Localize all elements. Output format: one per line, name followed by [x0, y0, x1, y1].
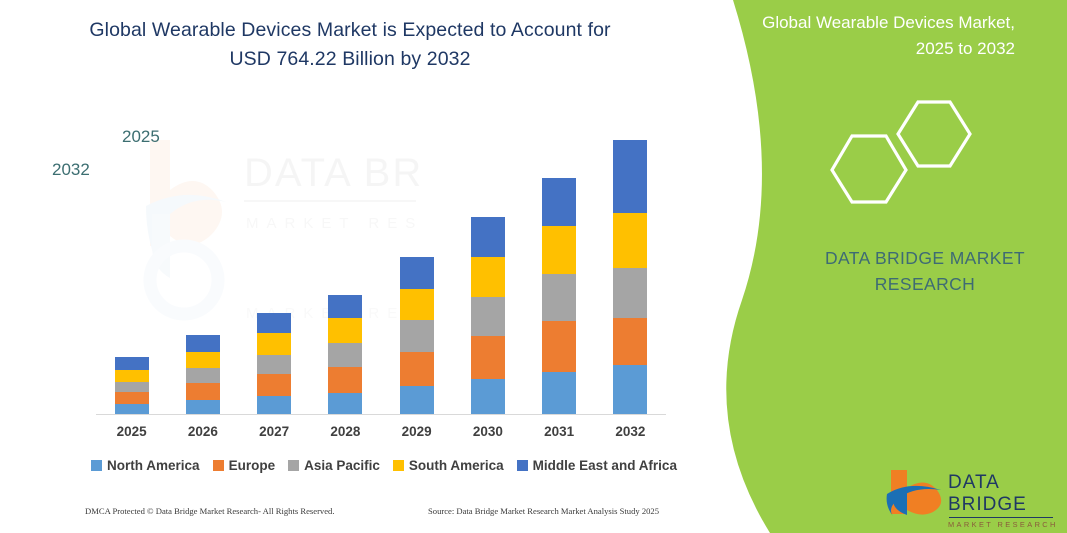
bar-segment[interactable]: [400, 352, 434, 386]
bar-segment[interactable]: [115, 357, 149, 370]
bar-segment[interactable]: [186, 335, 220, 352]
legend-swatch-icon: [288, 460, 299, 471]
stacked-bar[interactable]: [186, 335, 220, 415]
bar-segment[interactable]: [257, 355, 291, 374]
bar-segment[interactable]: [471, 336, 505, 379]
legend-swatch-icon: [213, 460, 224, 471]
bar-segment[interactable]: [613, 213, 647, 268]
stacked-bar[interactable]: [471, 217, 505, 415]
stacked-bar[interactable]: [115, 357, 149, 415]
bar-segment[interactable]: [613, 268, 647, 318]
x-axis-line: [96, 414, 666, 415]
legend-label: North America: [107, 458, 200, 473]
bar-segment[interactable]: [400, 386, 434, 415]
logo-main-text: DATA BRIDGE: [948, 472, 1067, 516]
legend-item[interactable]: South America: [393, 458, 504, 473]
side-brand-line1: DATA BRIDGE MARKET: [825, 248, 1025, 268]
bar-segment[interactable]: [613, 365, 647, 415]
bar-segment[interactable]: [542, 226, 576, 274]
legend-item[interactable]: Middle East and Africa: [517, 458, 677, 473]
stacked-bar[interactable]: [257, 313, 291, 415]
legend-swatch-icon: [517, 460, 528, 471]
side-title-line1: Global Wearable Devices Market,: [762, 13, 1015, 32]
page-title: Global Wearable Devices Market is Expect…: [60, 16, 640, 74]
bar-segment[interactable]: [613, 140, 647, 213]
bar-segment[interactable]: [613, 318, 647, 365]
legend-item[interactable]: Europe: [213, 458, 276, 473]
copyright-text: DMCA Protected © Data Bridge Market Rese…: [85, 506, 335, 516]
bar-segment[interactable]: [257, 374, 291, 396]
bar-segment[interactable]: [186, 368, 220, 383]
bar-segment[interactable]: [400, 257, 434, 289]
legend-label: Middle East and Africa: [533, 458, 677, 473]
x-axis-label-2029: 2029: [382, 424, 452, 439]
bar-segment[interactable]: [186, 352, 220, 368]
bar-segment[interactable]: [257, 313, 291, 333]
x-axis-label-2032: 2032: [595, 424, 665, 439]
legend-label: Europe: [229, 458, 276, 473]
bar-segment[interactable]: [471, 379, 505, 415]
bar-segment[interactable]: [471, 297, 505, 336]
infographic-canvas: Global Wearable Devices Market is Expect…: [0, 0, 1067, 533]
bar-segment[interactable]: [328, 367, 362, 393]
hexagon-label-2032: 2032: [52, 160, 90, 180]
stacked-bar[interactable]: [613, 140, 647, 415]
bar-segment[interactable]: [542, 274, 576, 321]
bar-segment[interactable]: [328, 318, 362, 343]
bar-segment[interactable]: [328, 295, 362, 318]
side-title-line2: 2025 to 2032: [916, 39, 1015, 58]
hexagon-label-2025: 2025: [122, 127, 160, 147]
bar-segment[interactable]: [328, 393, 362, 415]
stacked-bar[interactable]: [328, 295, 362, 415]
logo-divider: [949, 517, 1053, 518]
x-axis-labels: 20252026202720282029203020312032: [96, 424, 666, 446]
side-panel-brand: DATA BRIDGE MARKET RESEARCH: [795, 245, 1055, 297]
hexagon-2025-shape: [898, 102, 970, 166]
source-text: Source: Data Bridge Market Research Mark…: [428, 506, 659, 516]
bar-segment[interactable]: [542, 178, 576, 226]
chart-panel: Global Wearable Devices Market is Expect…: [0, 0, 700, 533]
bar-segment[interactable]: [471, 257, 505, 297]
bar-segment[interactable]: [257, 333, 291, 355]
x-axis-label-2027: 2027: [239, 424, 309, 439]
legend-swatch-icon: [393, 460, 404, 471]
bar-segment[interactable]: [115, 392, 149, 404]
bar-chart-plot: [96, 110, 666, 415]
bar-segment[interactable]: [257, 396, 291, 415]
side-brand-line2: RESEARCH: [875, 274, 975, 294]
legend-label: Asia Pacific: [304, 458, 380, 473]
chart-title-line1: Global Wearable Devices Market is Expect…: [89, 19, 610, 41]
bar-segment[interactable]: [400, 289, 434, 320]
x-axis-label-2030: 2030: [453, 424, 523, 439]
bar-segment[interactable]: [542, 321, 576, 372]
footer: DMCA Protected © Data Bridge Market Rese…: [0, 506, 700, 526]
x-axis-label-2025: 2025: [97, 424, 167, 439]
bar-segment[interactable]: [542, 372, 576, 415]
bar-segment[interactable]: [115, 382, 149, 392]
hexagon-2032-shape: [832, 136, 906, 202]
bar-segment[interactable]: [328, 343, 362, 367]
bar-segment[interactable]: [471, 217, 505, 257]
stacked-bar[interactable]: [400, 257, 434, 415]
chart-legend: North AmericaEuropeAsia PacificSouth Ame…: [96, 455, 672, 475]
hexagon-group: [810, 96, 1000, 206]
bar-segment[interactable]: [115, 370, 149, 382]
x-axis-label-2031: 2031: [524, 424, 594, 439]
side-panel-title: Global Wearable Devices Market, 2025 to …: [725, 10, 1015, 62]
x-axis-label-2028: 2028: [310, 424, 380, 439]
bar-segment[interactable]: [186, 383, 220, 400]
x-axis-label-2026: 2026: [168, 424, 238, 439]
legend-swatch-icon: [91, 460, 102, 471]
bar-segment[interactable]: [400, 320, 434, 352]
logo-sub-text: MARKET RESEARCH: [948, 520, 1067, 529]
brand-logo-text: DATA BRIDGE MARKET RESEARCH: [948, 472, 1067, 529]
stacked-bar[interactable]: [542, 178, 576, 415]
legend-label: South America: [409, 458, 504, 473]
legend-item[interactable]: North America: [91, 458, 200, 473]
chart-title-line2: USD 764.22 Billion by 2032: [229, 48, 470, 70]
bar-segment[interactable]: [186, 400, 220, 415]
legend-item[interactable]: Asia Pacific: [288, 458, 380, 473]
